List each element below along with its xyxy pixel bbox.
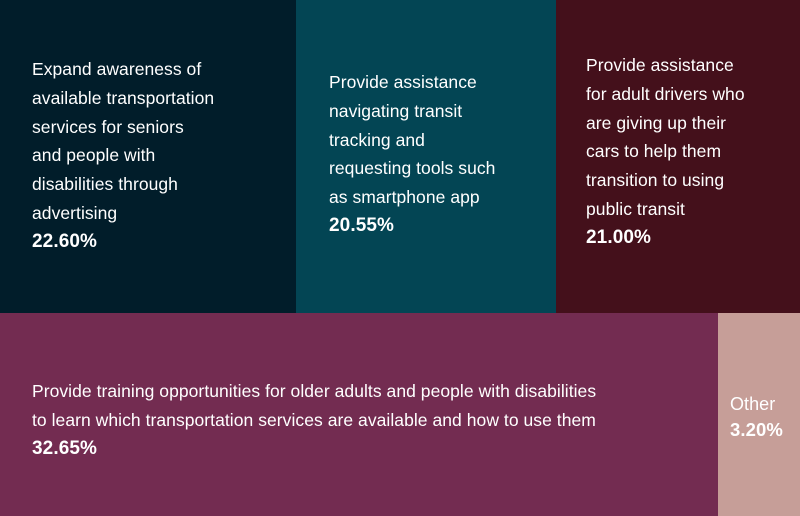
treemap-tile-navigation[interactable]: Provide assistance navigating transit tr… [296, 0, 556, 313]
tile-content-awareness: Expand awareness of available transporta… [0, 55, 296, 257]
tile-content-other: Other 3.20% [718, 391, 800, 443]
tile-value-awareness: 22.60% [32, 228, 282, 257]
tile-content-drivers: Provide assistance for adult drivers who… [556, 51, 800, 253]
tile-label-navigation: Provide assistance navigating transit tr… [329, 68, 542, 212]
tile-value-drivers: 21.00% [586, 224, 788, 253]
treemap-tile-other[interactable]: Other 3.20% [718, 313, 800, 516]
tile-label-other: Other [730, 391, 794, 417]
tile-value-navigation: 20.55% [329, 212, 542, 241]
treemap-tile-awareness[interactable]: Expand awareness of available transporta… [0, 0, 296, 313]
tile-label-awareness: Expand awareness of available transporta… [32, 55, 282, 228]
tile-label-training: Provide training opportunities for older… [32, 377, 700, 435]
treemap-tile-drivers[interactable]: Provide assistance for adult drivers who… [556, 0, 800, 313]
tile-label-drivers: Provide assistance for adult drivers who… [586, 51, 788, 224]
treemap-tile-training[interactable]: Provide training opportunities for older… [0, 313, 718, 516]
tile-content-training: Provide training opportunities for older… [0, 377, 718, 463]
tile-value-training: 32.65% [32, 435, 700, 464]
tile-content-navigation: Provide assistance navigating transit tr… [296, 68, 556, 241]
tile-value-other: 3.20% [730, 417, 794, 443]
treemap-chart: Expand awareness of available transporta… [0, 0, 800, 516]
